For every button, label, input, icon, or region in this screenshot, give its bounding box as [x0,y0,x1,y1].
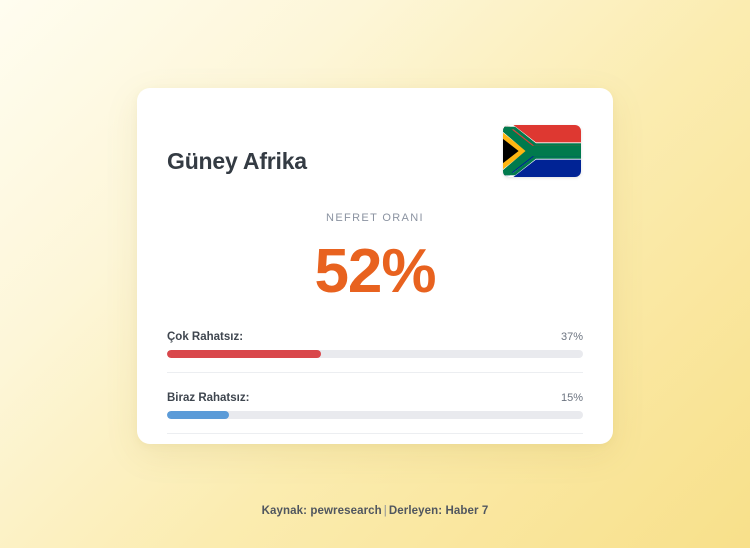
row-divider [167,372,583,373]
bar-head: Çok Rahatsız: 37% [167,331,583,343]
bar-label: Çok Rahatsız: [167,331,243,343]
card-header: Güney Afrika [137,88,613,184]
bar-value: 15% [561,392,583,404]
bar-fill [167,350,321,358]
metric-label: NEFRET ORANI [137,212,613,224]
south-africa-flag-icon [503,125,581,177]
footer-credit: Kaynak: pewresearch|Derleyen: Haber 7 [0,505,750,517]
bar-value: 37% [561,331,583,343]
page-title: Güney Afrika [167,127,307,174]
footer-compiler: Derleyen: Haber 7 [389,505,489,517]
metric-block: NEFRET ORANI 52% [137,184,613,303]
bar-list: Çok Rahatsız: 37% Biraz Rahatsız: 15% [137,303,613,434]
footer-source: Kaynak: pewresearch [262,505,382,517]
bar-track [167,350,583,358]
bar-track [167,411,583,419]
bar-label: Biraz Rahatsız: [167,392,249,404]
row-divider [167,433,583,434]
bar-row-biraz-rahatsiz: Biraz Rahatsız: 15% [167,378,583,434]
stat-card: Güney Afrika NEFRET ORANI 52% Çok Ra [137,88,613,444]
bar-row-cok-rahatsiz: Çok Rahatsız: 37% [167,317,583,373]
bar-fill [167,411,229,419]
bar-head: Biraz Rahatsız: 15% [167,392,583,404]
footer-separator: | [382,505,389,517]
metric-value: 52% [137,241,613,303]
